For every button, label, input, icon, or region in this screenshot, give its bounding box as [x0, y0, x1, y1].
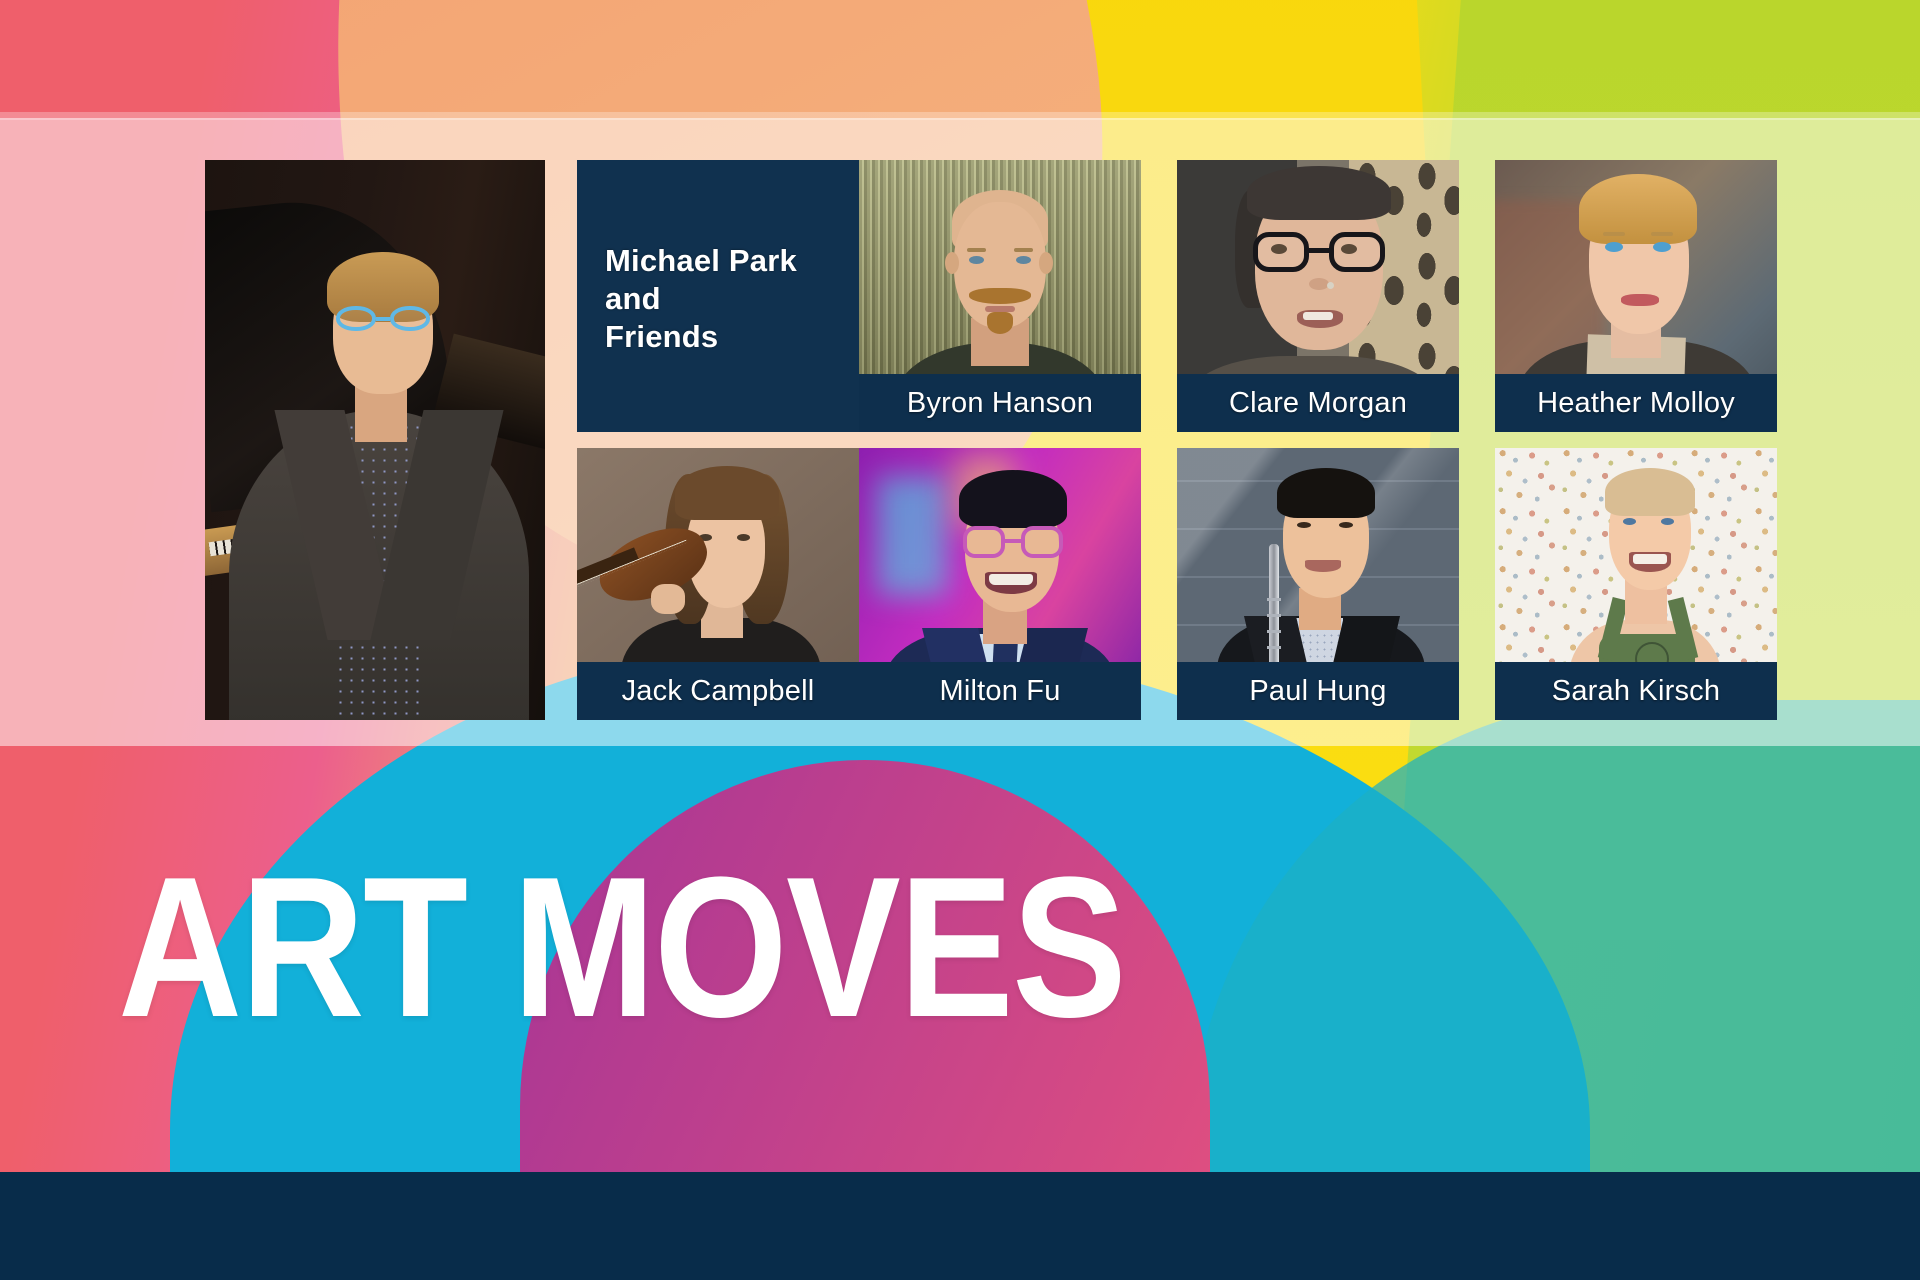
performer-name-bar: Jack Campbell [577, 662, 859, 720]
performer-card-paul-hung[interactable]: Paul Hung [1177, 448, 1459, 720]
performer-card-jack-campbell[interactable]: Jack Campbell [577, 448, 859, 720]
performer-card-sarah-kirsch[interactable]: Sarah Kirsch [1495, 448, 1777, 720]
performer-name: Heather Molloy [1537, 387, 1735, 420]
eyeglasses-icon [336, 306, 430, 331]
performer-card-clare-morgan[interactable]: Clare Morgan [1177, 160, 1459, 432]
eyeglasses-icon [963, 526, 1063, 558]
performer-name-bar: Paul Hung [1177, 662, 1459, 720]
feature-title-card: Michael Park and Friends [577, 160, 859, 432]
performer-card-heather-molloy[interactable]: Heather Molloy [1495, 160, 1777, 432]
performer-name: Sarah Kirsch [1552, 675, 1720, 708]
eyeglasses-icon [1253, 232, 1385, 272]
footer-bar [0, 1172, 1920, 1280]
photo-michael-park [205, 160, 545, 720]
performer-name: Milton Fu [939, 675, 1060, 708]
poster-canvas: Michael Park and Friends Byron Hanson [0, 0, 1920, 1280]
performer-name: Clare Morgan [1229, 387, 1407, 420]
feature-portrait-michael-park [205, 160, 545, 720]
performer-name-bar: Heather Molloy [1495, 374, 1777, 432]
performer-name: Jack Campbell [622, 675, 815, 708]
performer-name: Byron Hanson [907, 387, 1093, 420]
performer-name: Paul Hung [1249, 675, 1386, 708]
poster-headline: ART MOVES [118, 856, 1125, 1040]
performer-name-bar: Byron Hanson [859, 374, 1141, 432]
performer-card-milton-fu[interactable]: Milton Fu [859, 448, 1141, 720]
performer-name-bar: Sarah Kirsch [1495, 662, 1777, 720]
performer-name-bar: Clare Morgan [1177, 374, 1459, 432]
performer-card-byron-hanson[interactable]: Byron Hanson [859, 160, 1141, 432]
feature-title-text: Michael Park and Friends [605, 242, 859, 355]
performer-name-bar: Milton Fu [859, 662, 1141, 720]
